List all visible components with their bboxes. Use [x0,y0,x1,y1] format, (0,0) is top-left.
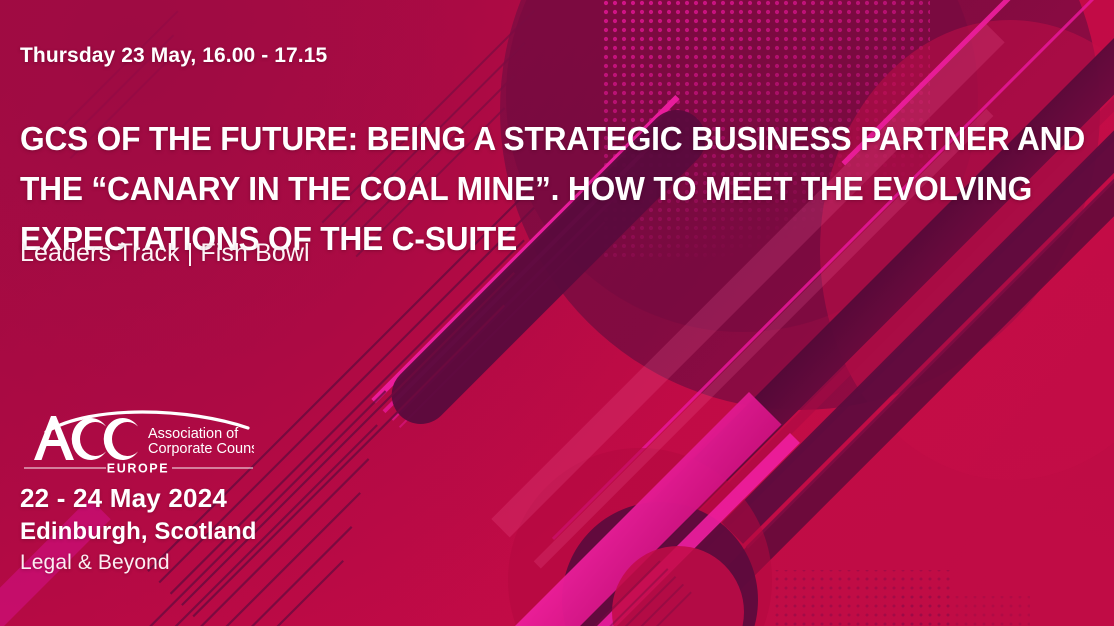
session-datetime: Thursday 23 May, 16.00 - 17.15 [20,44,327,68]
event-session-slide: Thursday 23 May, 16.00 - 17.15 GCS of th… [0,0,1114,626]
acc-logo-region: EUROPE [107,462,169,476]
session-track: Leaders Track | Fish Bowl [20,239,310,268]
event-tagline: Legal & Beyond [20,548,257,578]
event-footer: 22 - 24 May 2024 Edinburgh, Scotland Leg… [20,481,257,578]
event-location: Edinburgh, Scotland [20,515,257,548]
acc-logo: Association of Corporate Counsel EUROPE [22,406,254,476]
session-title-line: the “canary in the coal mine”. How to me… [20,164,990,214]
acc-logo-icon: Association of Corporate Counsel EUROPE [22,406,254,476]
acc-logo-name-line2: Corporate Counsel [148,441,254,457]
slide-content: Thursday 23 May, 16.00 - 17.15 GCS of th… [0,0,1114,626]
session-title-line: GCS of the future: Being a strategic bus… [20,114,990,164]
event-dates: 22 - 24 May 2024 [20,481,257,515]
acc-logo-name-line1: Association of [148,426,239,442]
